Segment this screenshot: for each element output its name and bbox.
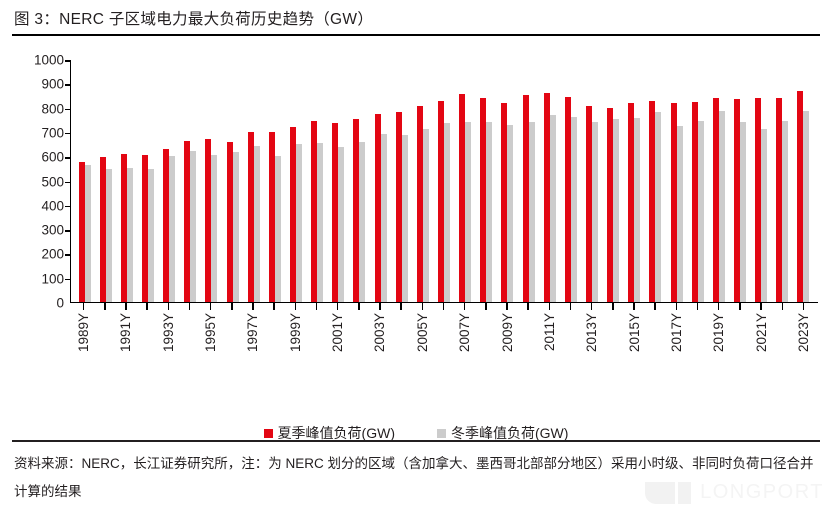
x-label-slot	[179, 311, 200, 393]
bar-winter[interactable]	[275, 156, 281, 302]
x-label-slot: 1989Y	[73, 311, 94, 393]
x-axis-tick	[358, 303, 360, 310]
y-axis-tick-label: 600	[41, 150, 64, 165]
x-label-slot	[348, 311, 369, 393]
bar-group	[95, 60, 116, 302]
bar-group	[116, 60, 137, 302]
bar-winter[interactable]	[782, 121, 788, 302]
x-label-slot	[602, 311, 623, 393]
bar-winter[interactable]	[402, 135, 408, 302]
bar-winter[interactable]	[719, 111, 725, 302]
bar-winter[interactable]	[233, 152, 239, 302]
x-tick-slot	[115, 303, 136, 310]
x-tick-slot	[200, 303, 221, 310]
x-tick-slot	[179, 303, 200, 310]
x-tick-slot	[708, 303, 729, 310]
x-tick-slot	[137, 303, 158, 310]
x-axis-tick-label: 2007Y	[457, 313, 472, 352]
x-label-slot: 2001Y	[327, 311, 348, 393]
x-label-slot	[645, 311, 666, 393]
bar-winter[interactable]	[592, 122, 598, 302]
x-axis-tick	[570, 303, 572, 310]
footer-divider	[12, 440, 820, 442]
figure-header: 图 3：NERC 子区域电力最大负荷历史趋势（GW）	[0, 0, 832, 36]
x-tick-slot	[496, 303, 517, 310]
longport-logo-icon	[645, 482, 691, 504]
x-tick-slot	[645, 303, 666, 310]
x-label-slot: 2005Y	[412, 311, 433, 393]
x-label-slot	[729, 311, 750, 393]
x-axis-tick	[591, 303, 593, 310]
y-axis-tick-label: 200	[41, 247, 64, 262]
bar-winter[interactable]	[677, 126, 683, 302]
x-tick-slot	[221, 303, 242, 310]
x-tick-slot	[264, 303, 285, 310]
x-label-slot: 1995Y	[200, 311, 221, 393]
bar-group	[624, 60, 645, 302]
x-tick-slot	[666, 303, 687, 310]
bar-group	[772, 60, 793, 302]
bar-winter[interactable]	[698, 121, 704, 302]
x-label-slot	[264, 311, 285, 393]
y-axis-tick	[65, 60, 71, 62]
x-axis-tick-label: 1989Y	[76, 313, 91, 352]
x-label-slot: 1999Y	[285, 311, 306, 393]
x-tick-slot	[772, 303, 793, 310]
x-tick-slot	[391, 303, 412, 310]
x-tick-slot	[369, 303, 390, 310]
x-tick-slot	[729, 303, 750, 310]
bar-group	[412, 60, 433, 302]
x-label-slot: 2019Y	[708, 311, 729, 393]
bar-group	[74, 60, 95, 302]
bar-group	[666, 60, 687, 302]
bar-group	[729, 60, 750, 302]
bar-group	[433, 60, 454, 302]
y-axis-tick-label: 800	[41, 101, 64, 116]
bar-winter[interactable]	[571, 117, 577, 302]
x-axis-tick	[125, 303, 127, 310]
x-tick-slot	[687, 303, 708, 310]
x-axis-tick-label: 2013Y	[584, 313, 599, 352]
x-axis-tick	[464, 303, 466, 310]
bar-winter[interactable]	[296, 144, 302, 302]
x-axis-tick-label: 2005Y	[415, 313, 430, 352]
x-axis-tick-label: 2003Y	[372, 313, 387, 352]
x-axis-tick	[485, 303, 487, 310]
x-tick-slot	[602, 303, 623, 310]
bar-winter[interactable]	[169, 156, 175, 302]
bar-winter[interactable]	[486, 122, 492, 302]
bar-winter[interactable]	[465, 122, 471, 302]
x-axis-tick-label: 2001Y	[330, 313, 345, 352]
x-tick-slot	[475, 303, 496, 310]
bar-winter[interactable]	[529, 122, 535, 302]
x-label-slot: 2009Y	[496, 311, 517, 393]
x-label-slot: 2003Y	[369, 311, 390, 393]
x-tick-slot	[242, 303, 263, 310]
x-axis-tick	[443, 303, 445, 310]
bar-group	[222, 60, 243, 302]
x-label-slot: 2015Y	[623, 311, 644, 393]
x-axis-tick	[337, 303, 339, 310]
bar-winter[interactable]	[634, 118, 640, 302]
x-label-slot: 2013Y	[581, 311, 602, 393]
x-axis-tick-label: 1993Y	[161, 313, 176, 352]
page-title: 图 3：NERC 子区域电力最大负荷历史趋势（GW）	[0, 7, 373, 29]
bar-group	[497, 60, 518, 302]
x-axis-tick	[697, 303, 699, 310]
bar-group	[243, 60, 264, 302]
x-tick-slot	[518, 303, 539, 310]
x-tick-slot	[306, 303, 327, 310]
bar-winter[interactable]	[655, 112, 661, 302]
bar-group	[539, 60, 560, 302]
x-axis-tick-label: 2011Y	[542, 313, 557, 351]
x-label-slot	[433, 311, 454, 393]
x-axis-ticks	[70, 303, 818, 310]
x-axis-tick-label: 1991Y	[118, 313, 133, 352]
x-axis-tick	[803, 303, 805, 310]
bar-group	[137, 60, 158, 302]
bar-group	[201, 60, 222, 302]
x-label-slot: 1993Y	[158, 311, 179, 393]
y-axis-tick	[65, 157, 71, 159]
x-axis-tick	[718, 303, 720, 310]
x-axis-tick-label: 2009Y	[500, 313, 515, 352]
x-axis-tick-label: 1999Y	[288, 313, 303, 352]
bar-winter[interactable]	[550, 115, 556, 302]
x-axis-tick	[189, 303, 191, 310]
x-axis-tick	[104, 303, 106, 310]
y-axis-tick	[65, 182, 71, 184]
bar-group	[687, 60, 708, 302]
x-label-slot: 2007Y	[454, 311, 475, 393]
bar-group	[476, 60, 497, 302]
bar-group	[180, 60, 201, 302]
y-axis-tick	[65, 84, 71, 86]
x-axis-tick	[400, 303, 402, 310]
x-label-slot	[306, 311, 327, 393]
x-tick-slot	[94, 303, 115, 310]
bar-groups	[71, 60, 818, 302]
bar-winter[interactable]	[106, 169, 112, 302]
x-tick-slot	[73, 303, 94, 310]
x-axis-labels: 1989Y1991Y1993Y1995Y1997Y1999Y2001Y2003Y…	[70, 311, 818, 393]
bar-group	[455, 60, 476, 302]
longport-watermark: LONGPORT	[645, 481, 824, 504]
chart-container: 01002003004005006007008009001000 1989Y19…	[0, 38, 832, 413]
y-axis-tick-label: 500	[41, 174, 64, 189]
x-tick-slot	[793, 303, 814, 310]
bar-group	[328, 60, 349, 302]
bar-winter[interactable]	[254, 146, 260, 302]
x-axis-tick	[231, 303, 233, 310]
x-label-slot	[221, 311, 242, 393]
x-axis-tick	[633, 303, 635, 310]
bar-winter[interactable]	[803, 111, 809, 302]
legend-swatch-icon	[264, 429, 273, 438]
x-tick-slot	[560, 303, 581, 310]
y-axis-labels: 01002003004005006007008009001000	[0, 60, 64, 303]
x-tick-slot	[348, 303, 369, 310]
x-axis-tick	[654, 303, 656, 310]
x-label-slot: 2021Y	[751, 311, 772, 393]
x-axis-tick	[612, 303, 614, 310]
x-tick-slot	[327, 303, 348, 310]
y-axis-tick-label: 1000	[34, 53, 64, 68]
bar-group	[751, 60, 772, 302]
x-label-slot: 1997Y	[242, 311, 263, 393]
x-axis-tick-label: 2023Y	[796, 313, 811, 352]
x-label-slot	[94, 311, 115, 393]
x-label-slot: 2011Y	[539, 311, 560, 393]
x-label-slot	[687, 311, 708, 393]
bar-group	[560, 60, 581, 302]
x-axis-tick-label: 2021Y	[754, 313, 769, 352]
x-axis-tick	[83, 303, 85, 310]
y-axis-tick	[65, 109, 71, 111]
x-axis-tick	[760, 303, 762, 310]
x-axis-tick	[506, 303, 508, 310]
y-axis-tick-label: 0	[56, 296, 64, 311]
x-axis-tick	[146, 303, 148, 310]
bar-group	[603, 60, 624, 302]
x-label-slot	[475, 311, 496, 393]
bar-winter[interactable]	[444, 123, 450, 302]
x-axis-tick	[252, 303, 254, 310]
x-label-slot	[772, 311, 793, 393]
x-axis-tick	[422, 303, 424, 310]
y-axis-tick-label: 700	[41, 125, 64, 140]
x-tick-slot	[412, 303, 433, 310]
y-axis-tick-label: 900	[41, 77, 64, 92]
x-axis-tick	[316, 303, 318, 310]
bar-group	[708, 60, 729, 302]
x-tick-slot	[581, 303, 602, 310]
bar-group	[159, 60, 180, 302]
bar-group	[645, 60, 666, 302]
bar-group	[581, 60, 602, 302]
x-axis-tick-label: 2017Y	[669, 313, 684, 352]
x-axis-tick-label: 2015Y	[627, 313, 642, 352]
bar-winter[interactable]	[127, 168, 133, 302]
x-label-slot	[518, 311, 539, 393]
watermark-label: LONGPORT	[700, 481, 824, 504]
x-tick-slot	[285, 303, 306, 310]
x-axis-tick	[676, 303, 678, 310]
y-axis-tick	[65, 133, 71, 135]
x-axis-tick	[295, 303, 297, 310]
legend-swatch-icon	[437, 429, 446, 438]
x-tick-slot	[158, 303, 179, 310]
x-axis-tick-label: 1995Y	[203, 313, 218, 352]
x-label-slot: 2023Y	[793, 311, 814, 393]
bar-group	[285, 60, 306, 302]
x-label-slot: 2017Y	[666, 311, 687, 393]
x-axis-tick	[273, 303, 275, 310]
y-axis-tick	[65, 206, 71, 208]
bar-winter[interactable]	[423, 129, 429, 302]
bar-group	[307, 60, 328, 302]
bar-winter[interactable]	[359, 142, 365, 302]
bar-group	[264, 60, 285, 302]
x-label-slot	[560, 311, 581, 393]
y-axis-tick-label: 100	[41, 271, 64, 286]
plot-area	[70, 60, 818, 303]
bar-winter[interactable]	[507, 125, 513, 302]
bar-group	[349, 60, 370, 302]
bar-group	[391, 60, 412, 302]
x-label-slot	[391, 311, 412, 393]
bar-winter[interactable]	[148, 169, 154, 302]
x-tick-slot	[539, 303, 560, 310]
y-axis-tick	[65, 254, 71, 256]
x-axis-tick-label: 2019Y	[711, 313, 726, 352]
x-tick-slot	[433, 303, 454, 310]
x-tick-slot	[454, 303, 475, 310]
bar-group	[370, 60, 391, 302]
bar-winter[interactable]	[211, 155, 217, 302]
bar-group	[793, 60, 814, 302]
x-tick-slot	[623, 303, 644, 310]
x-axis-tick	[168, 303, 170, 310]
bar-winter[interactable]	[190, 151, 196, 302]
x-label-slot	[137, 311, 158, 393]
x-axis-tick	[782, 303, 784, 310]
bar-winter[interactable]	[338, 147, 344, 302]
x-label-slot: 1991Y	[115, 311, 136, 393]
y-axis-tick-label: 400	[41, 198, 64, 213]
x-axis-tick-label: 1997Y	[245, 313, 260, 352]
bar-winter[interactable]	[740, 122, 746, 302]
x-tick-slot	[751, 303, 772, 310]
bar-winter[interactable]	[613, 119, 619, 302]
header-divider	[12, 34, 820, 36]
bar-group	[518, 60, 539, 302]
x-axis-tick	[527, 303, 529, 310]
bar-winter[interactable]	[761, 129, 767, 302]
bar-winter[interactable]	[85, 165, 91, 302]
x-axis-tick	[739, 303, 741, 310]
bar-winter[interactable]	[317, 143, 323, 302]
y-axis-tick	[65, 230, 71, 232]
x-axis-tick	[549, 303, 551, 310]
y-axis-tick-label: 300	[41, 223, 64, 238]
x-axis-tick	[379, 303, 381, 310]
y-axis-tick	[65, 279, 71, 281]
x-axis-tick	[210, 303, 212, 310]
bar-winter[interactable]	[381, 134, 387, 302]
